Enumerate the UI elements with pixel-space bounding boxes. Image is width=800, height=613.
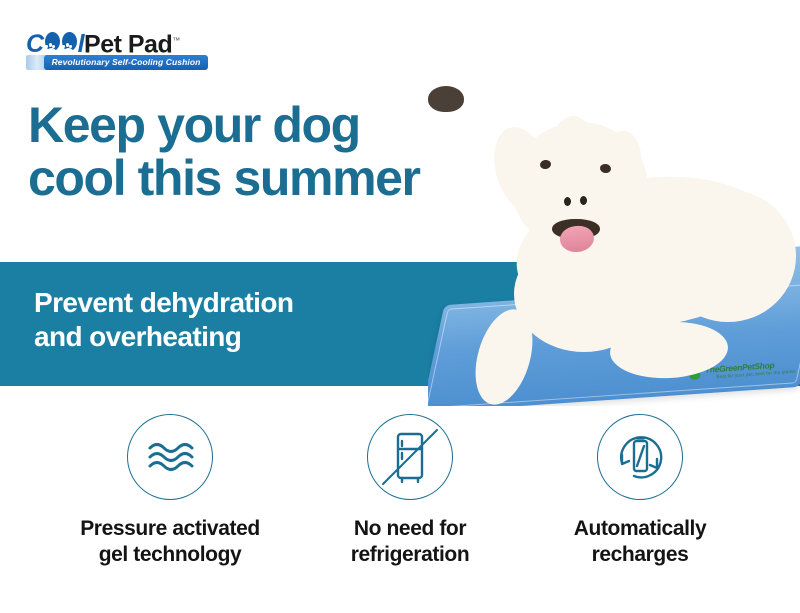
feature-label-line-1: No need for [290, 516, 530, 542]
feature-label-line-1: Automatically [520, 516, 760, 542]
feature-item-gel-technology: Pressure activated gel technology [50, 414, 290, 568]
feature-label-line-2: refrigeration [290, 542, 530, 568]
feature-item-no-refrigeration: No need for refrigeration [290, 414, 530, 568]
feature-label-line-2: recharges [520, 542, 760, 568]
dog-nose [428, 86, 464, 112]
logo-tagline: Revolutionary Self-Cooling Cushion [44, 55, 208, 70]
product-advertisement: ClPet Pad™ Revolutionary Self-Cooling Cu… [0, 0, 800, 613]
feature-item-auto-recharge: Automatically recharges [520, 414, 760, 568]
brand-logo: ClPet Pad™ Revolutionary Self-Cooling Cu… [26, 26, 208, 76]
logo-wordmark: ClPet Pad™ [26, 26, 208, 56]
dog-nostril-right [580, 196, 587, 205]
feature-label-gel-technology: Pressure activated gel technology [50, 516, 290, 568]
feature-label-no-refrigeration: No need for refrigeration [290, 516, 530, 568]
logo-paw-icon-2 [62, 32, 77, 51]
feature-list: Pressure activated gel technology [0, 414, 800, 604]
water-waves-icon [127, 414, 213, 500]
feature-label-line-2: gel technology [50, 542, 290, 568]
banner-line-2: and overheating [34, 320, 454, 354]
feature-label-auto-recharge: Automatically recharges [520, 516, 760, 568]
dog-nostril-left [564, 197, 571, 206]
product-photo: TheGreenPetShop Best for your pet, best … [428, 86, 800, 406]
feature-label-line-1: Pressure activated [50, 516, 290, 542]
banner-line-1: Prevent dehydration [34, 286, 454, 320]
no-refrigeration-icon [367, 414, 453, 500]
logo-paw-icon-1 [45, 32, 60, 51]
auto-recharge-battery-icon [597, 414, 683, 500]
dog-haunch [660, 190, 796, 322]
banner-text: Prevent dehydration and overheating [34, 286, 454, 354]
logo-trademark: ™ [172, 36, 180, 45]
